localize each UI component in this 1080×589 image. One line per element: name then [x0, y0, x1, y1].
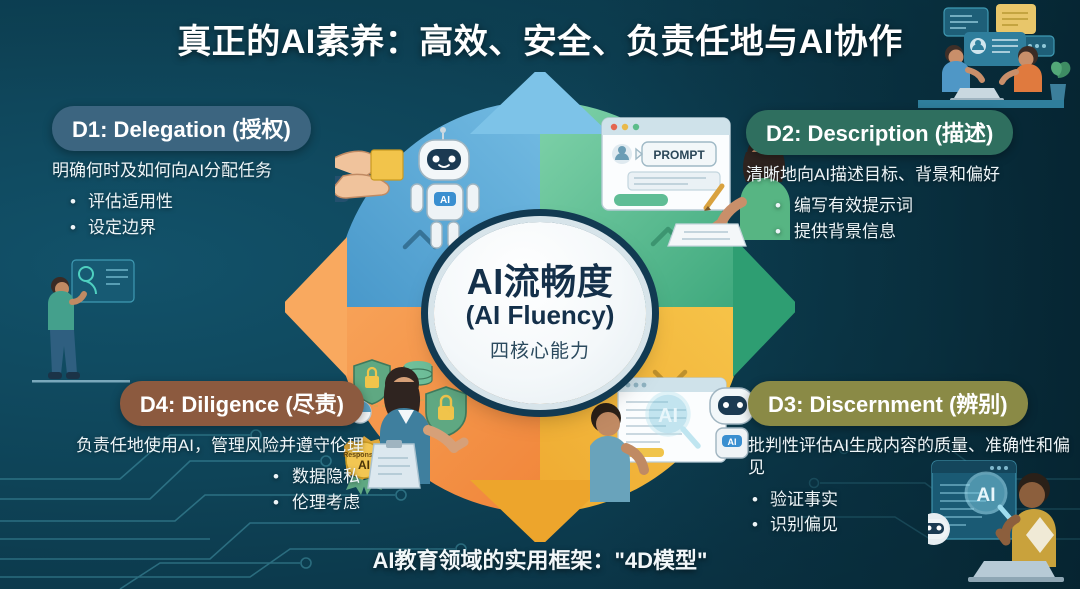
center-subtitle: 四核心能力	[490, 336, 590, 363]
list-item: •数据隐私	[54, 464, 360, 490]
list-item-label: 伦理考虑	[292, 493, 360, 512]
quadrant-d3: D3: Discernment (辨别) 批判性评估AI生成内容的质量、准确性和…	[748, 381, 1080, 538]
quadrant-d1-label[interactable]: D1: Delegation (授权)	[52, 106, 311, 151]
robot-ai-badge: AI	[440, 195, 450, 206]
list-item: 验证事实	[770, 487, 1080, 513]
list-item-label: 数据隐私	[292, 467, 360, 486]
list-item: 设定边界	[88, 215, 372, 241]
quadrant-d2: D2: Description (描述) 清晰地向AI描述目标、背景和偏好 编写…	[746, 110, 1080, 244]
list-item: 提供背景信息	[794, 219, 1080, 245]
infographic-poster: AI流畅度 (AI Fluency) 四核心能力	[0, 0, 1080, 589]
quadrant-d1: D1: Delegation (授权) 明确何时及如何向AI分配任务 评估适用性…	[52, 106, 372, 240]
page-footer: AI教育领域的实用框架："4D模型"	[0, 543, 1080, 575]
quadrant-d2-bullets: 编写有效提示词 提供背景信息	[746, 193, 1080, 244]
quadrant-d3-label[interactable]: D3: Discernment (辨别)	[748, 381, 1028, 426]
list-item: 编写有效提示词	[794, 193, 1080, 219]
center-circle: AI流畅度 (AI Fluency) 四核心能力	[434, 222, 646, 404]
quadrant-d1-bullets: 评估适用性 设定边界	[52, 189, 372, 240]
prompt-window-label: PROMPT	[653, 148, 705, 162]
center-title-en: (AI Fluency)	[466, 301, 615, 331]
quadrant-d2-description: 清晰地向AI描述目标、背景和偏好	[746, 164, 1080, 186]
quadrant-d4-label[interactable]: D4: Diligence (尽责)	[120, 381, 364, 426]
list-item: 识别偏见	[770, 512, 1080, 538]
page-title: 真正的AI素养：高效、安全、负责任地与AI协作	[0, 14, 1080, 63]
quadrant-d3-bullets: 验证事实 识别偏见	[748, 487, 1080, 538]
quadrant-d4-bullets: •数据隐私 •伦理考虑	[54, 464, 364, 515]
svg-text:AI: AI	[728, 437, 737, 447]
quadrant-d4: D4: Diligence (尽责) 负责任地使用AI，管理风险并遵守伦理 •数…	[54, 381, 364, 515]
quadrant-d3-description: 批判性评估AI生成内容的质量、准确性和偏见	[748, 435, 1080, 480]
center-title-cn: AI流畅度	[467, 263, 614, 300]
illustration-person-at-screen	[22, 252, 140, 402]
quadrant-d2-label[interactable]: D2: Description (描述)	[746, 110, 1013, 155]
list-item: 评估适用性	[88, 189, 372, 215]
svg-text:AI: AI	[658, 405, 678, 427]
quadrant-d1-description: 明确何时及如何向AI分配任务	[52, 160, 372, 182]
quadrant-d4-description: 负责任地使用AI，管理风险并遵守伦理	[54, 435, 364, 457]
list-item: •伦理考虑	[54, 490, 360, 516]
